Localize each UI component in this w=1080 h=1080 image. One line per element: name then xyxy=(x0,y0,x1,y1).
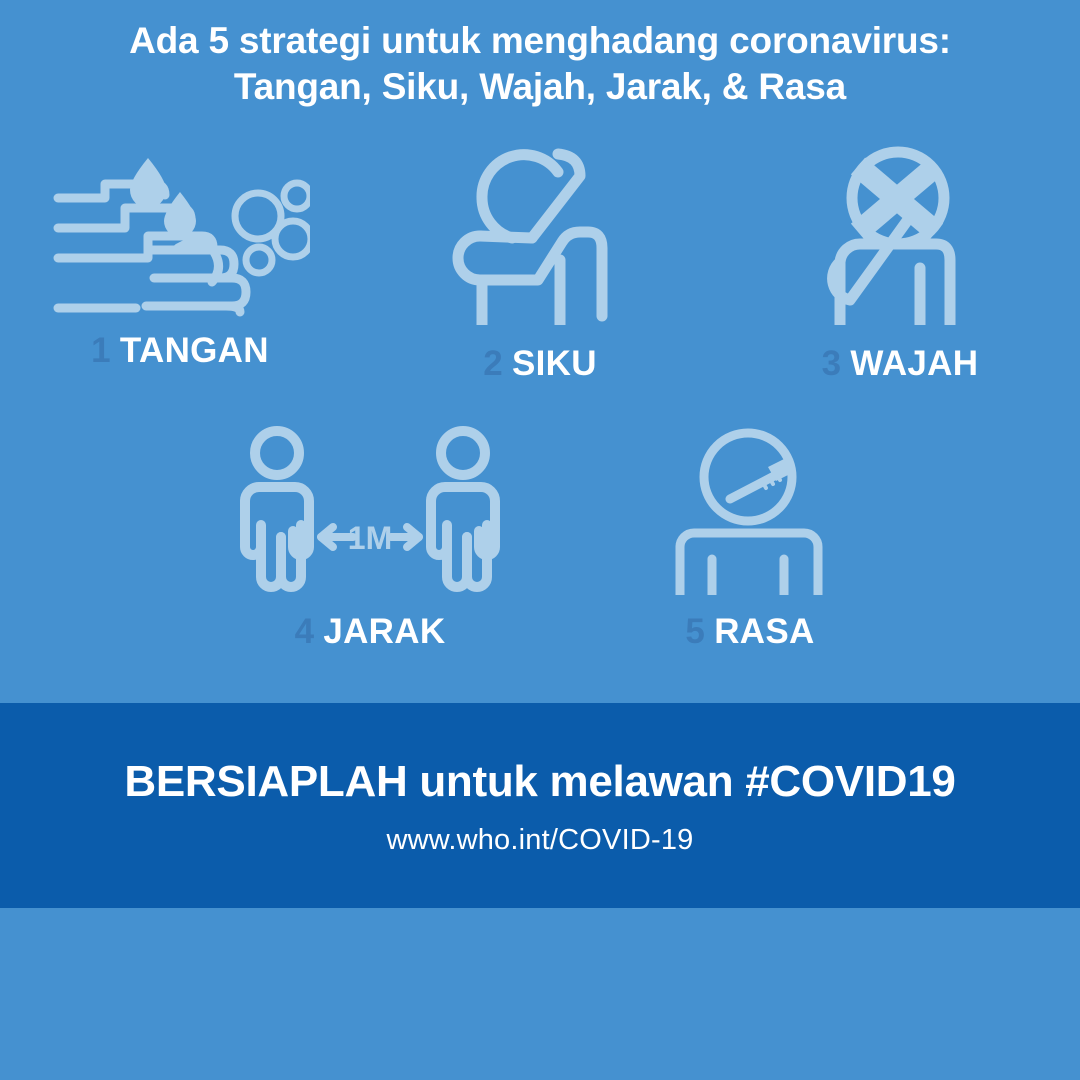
banner-url[interactable]: www.who.int/COVID-19 xyxy=(0,824,1080,857)
distance-value-text: 1M xyxy=(348,520,392,556)
step-card-rasa: 5RASA xyxy=(560,425,940,652)
social-distance-icon: 1M xyxy=(180,425,560,600)
step-card-jarak: 1M 4JARAK xyxy=(180,425,560,652)
step-label-siku: SIKU xyxy=(512,344,597,383)
title-line-2: Tangan, Siku, Wajah, Jarak, & Rasa xyxy=(0,64,1080,110)
step-number-1: 1 xyxy=(91,331,111,370)
handwashing-icon xyxy=(0,150,360,325)
step-caption-siku: 2SIKU xyxy=(360,344,720,384)
page-title: Ada 5 strategi untuk menghadang coronavi… xyxy=(0,18,1080,110)
cough-elbow-icon xyxy=(360,140,720,330)
step-number-4: 4 xyxy=(295,612,315,651)
banner-headline: BERSIAPLAH untuk melawan #COVID19 xyxy=(0,757,1080,807)
title-line-1: Ada 5 strategi untuk menghadang coronavi… xyxy=(0,18,1080,64)
no-touch-face-icon xyxy=(720,140,1080,330)
step-label-wajah: WAJAH xyxy=(850,344,978,383)
step-number-5: 5 xyxy=(685,612,705,651)
step-label-tangan: TANGAN xyxy=(120,331,269,370)
step-number-3: 3 xyxy=(822,344,842,383)
step-card-tangan: 1TANGAN xyxy=(0,150,360,371)
step-label-rasa: RASA xyxy=(714,612,814,651)
step-label-jarak: JARAK xyxy=(323,612,445,651)
step-number-2: 2 xyxy=(483,344,503,383)
step-card-siku: 2SIKU xyxy=(360,140,720,384)
covid-prevention-poster: Ada 5 strategi untuk menghadang coronavi… xyxy=(0,0,1080,1080)
step-card-wajah: 3WAJAH xyxy=(720,140,1080,384)
step-caption-wajah: 3WAJAH xyxy=(720,344,1080,384)
call-to-action-banner: BERSIAPLAH untuk melawan #COVID19 www.wh… xyxy=(0,703,1080,908)
step-caption-rasa: 5RASA xyxy=(560,612,940,652)
feel-unwell-thermometer-icon xyxy=(560,425,940,600)
step-caption-tangan: 1TANGAN xyxy=(0,331,360,371)
step-caption-jarak: 4JARAK xyxy=(180,612,560,652)
footer-logo-bar: FIFA® xyxy=(0,908,1080,1080)
